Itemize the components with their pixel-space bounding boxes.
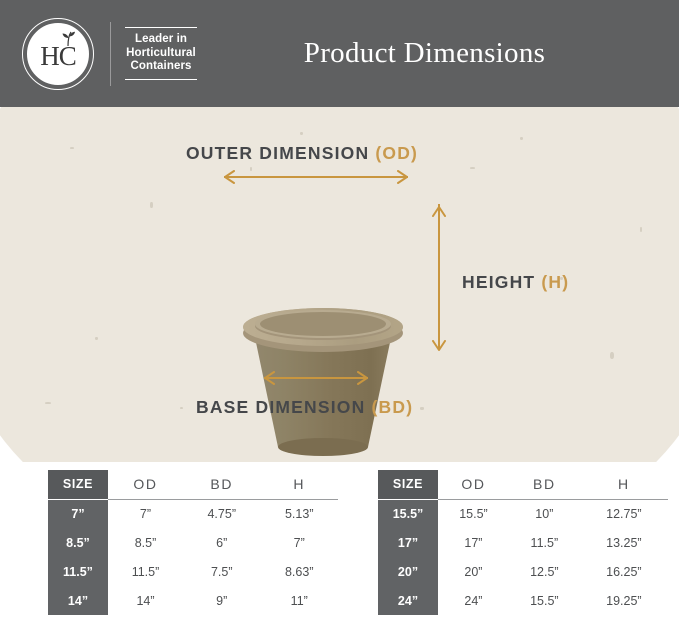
column-header-od: OD	[438, 470, 509, 499]
height-label: HEIGHT (H)	[462, 272, 569, 293]
outer-dimension-tag: (OD)	[375, 143, 418, 163]
column-header-h: H	[580, 470, 668, 499]
cell-h: 12.75”	[580, 499, 668, 528]
height-text: HEIGHT	[462, 272, 535, 292]
cell-size: 24”	[378, 586, 438, 615]
height-arrow-icon	[432, 204, 446, 349]
cell-od: 8.5”	[108, 528, 183, 557]
cell-bd: 7.5”	[183, 557, 261, 586]
cell-od: 15.5”	[438, 499, 509, 528]
cell-bd: 6”	[183, 528, 261, 557]
cell-h: 11”	[260, 586, 338, 615]
cell-size: 20”	[378, 557, 438, 586]
cell-od: 7”	[108, 499, 183, 528]
cell-size: 8.5”	[48, 528, 108, 557]
base-dimension-arrow-icon	[264, 371, 368, 385]
diagram-panel: OUTER DIMENSION (OD)	[0, 107, 679, 462]
cell-h: 5.13”	[260, 499, 338, 528]
cell-h: 19.25”	[580, 586, 668, 615]
brand-divider	[110, 22, 111, 86]
table-row: 8.5” 8.5” 6” 7”	[48, 528, 338, 557]
cell-od: 24”	[438, 586, 509, 615]
dimension-table-large-sizes: SIZE OD BD H 15.5” 15.5” 10” 12.75” 17”	[378, 470, 668, 615]
dimension-tables: SIZE OD BD H 7” 7” 4.75” 5.13” 8.5”	[0, 470, 679, 636]
table-row: 20” 20” 12.5” 16.25”	[378, 557, 668, 586]
tagline-line-2: Horticultural	[125, 47, 197, 61]
column-header-size: SIZE	[48, 470, 108, 499]
outer-dimension-text: OUTER DIMENSION	[186, 143, 369, 163]
cell-od: 17”	[438, 528, 509, 557]
cell-bd: 11.5”	[509, 528, 580, 557]
hc-circle-logo-icon: HC	[22, 18, 94, 90]
base-dimension-text: BASE DIMENSION	[196, 397, 365, 417]
cell-bd: 12.5”	[509, 557, 580, 586]
dimension-table-small-sizes: SIZE OD BD H 7” 7” 4.75” 5.13” 8.5”	[48, 470, 338, 615]
cell-size: 17”	[378, 528, 438, 557]
outer-dimension-arrow-icon	[224, 170, 408, 184]
cell-bd: 10”	[509, 499, 580, 528]
table-header-row: SIZE OD BD H	[378, 470, 668, 499]
brand-tagline: Leader in Horticultural Containers	[125, 27, 197, 80]
cell-h: 16.25”	[580, 557, 668, 586]
column-header-od: OD	[108, 470, 183, 499]
tagline-rule-bottom	[125, 79, 197, 80]
header-bar: HC Leader in Horticultural Containers	[0, 0, 679, 107]
brand-lockup: HC Leader in Horticultural Containers	[0, 18, 197, 90]
cell-bd: 15.5”	[509, 586, 580, 615]
table-row: 7” 7” 4.75” 5.13”	[48, 499, 338, 528]
cell-od: 14”	[108, 586, 183, 615]
column-header-h: H	[260, 470, 338, 499]
table-row: 17” 17” 11.5” 13.25”	[378, 528, 668, 557]
cell-size: 7”	[48, 499, 108, 528]
column-header-bd: BD	[509, 470, 580, 499]
cell-h: 13.25”	[580, 528, 668, 557]
base-dimension-label: BASE DIMENSION (BD)	[196, 397, 413, 418]
tagline-line-3: Containers	[125, 60, 197, 74]
cell-bd: 9”	[183, 586, 261, 615]
height-tag: (H)	[541, 272, 569, 292]
product-dimensions-infographic: HC Leader in Horticultural Containers	[0, 0, 679, 636]
column-header-size: SIZE	[378, 470, 438, 499]
table-row: 14” 14” 9” 11”	[48, 586, 338, 615]
outer-dimension-label: OUTER DIMENSION (OD)	[186, 143, 418, 164]
tagline-line-1: Leader in	[125, 33, 197, 47]
table-row: 11.5” 11.5” 7.5” 8.63”	[48, 557, 338, 586]
cell-h: 7”	[260, 528, 338, 557]
cell-h: 8.63”	[260, 557, 338, 586]
column-header-bd: BD	[183, 470, 261, 499]
cell-bd: 4.75”	[183, 499, 261, 528]
cell-od: 11.5”	[108, 557, 183, 586]
table-row: 24” 24” 15.5” 19.25”	[378, 586, 668, 615]
base-dimension-tag: (BD)	[372, 397, 414, 417]
cell-size: 14”	[48, 586, 108, 615]
table-row: 15.5” 15.5” 10” 12.75”	[378, 499, 668, 528]
cell-od: 20”	[438, 557, 509, 586]
table-header-row: SIZE OD BD H	[48, 470, 338, 499]
cell-size: 11.5”	[48, 557, 108, 586]
leaf-icon	[58, 31, 80, 52]
cell-size: 15.5”	[378, 499, 438, 528]
